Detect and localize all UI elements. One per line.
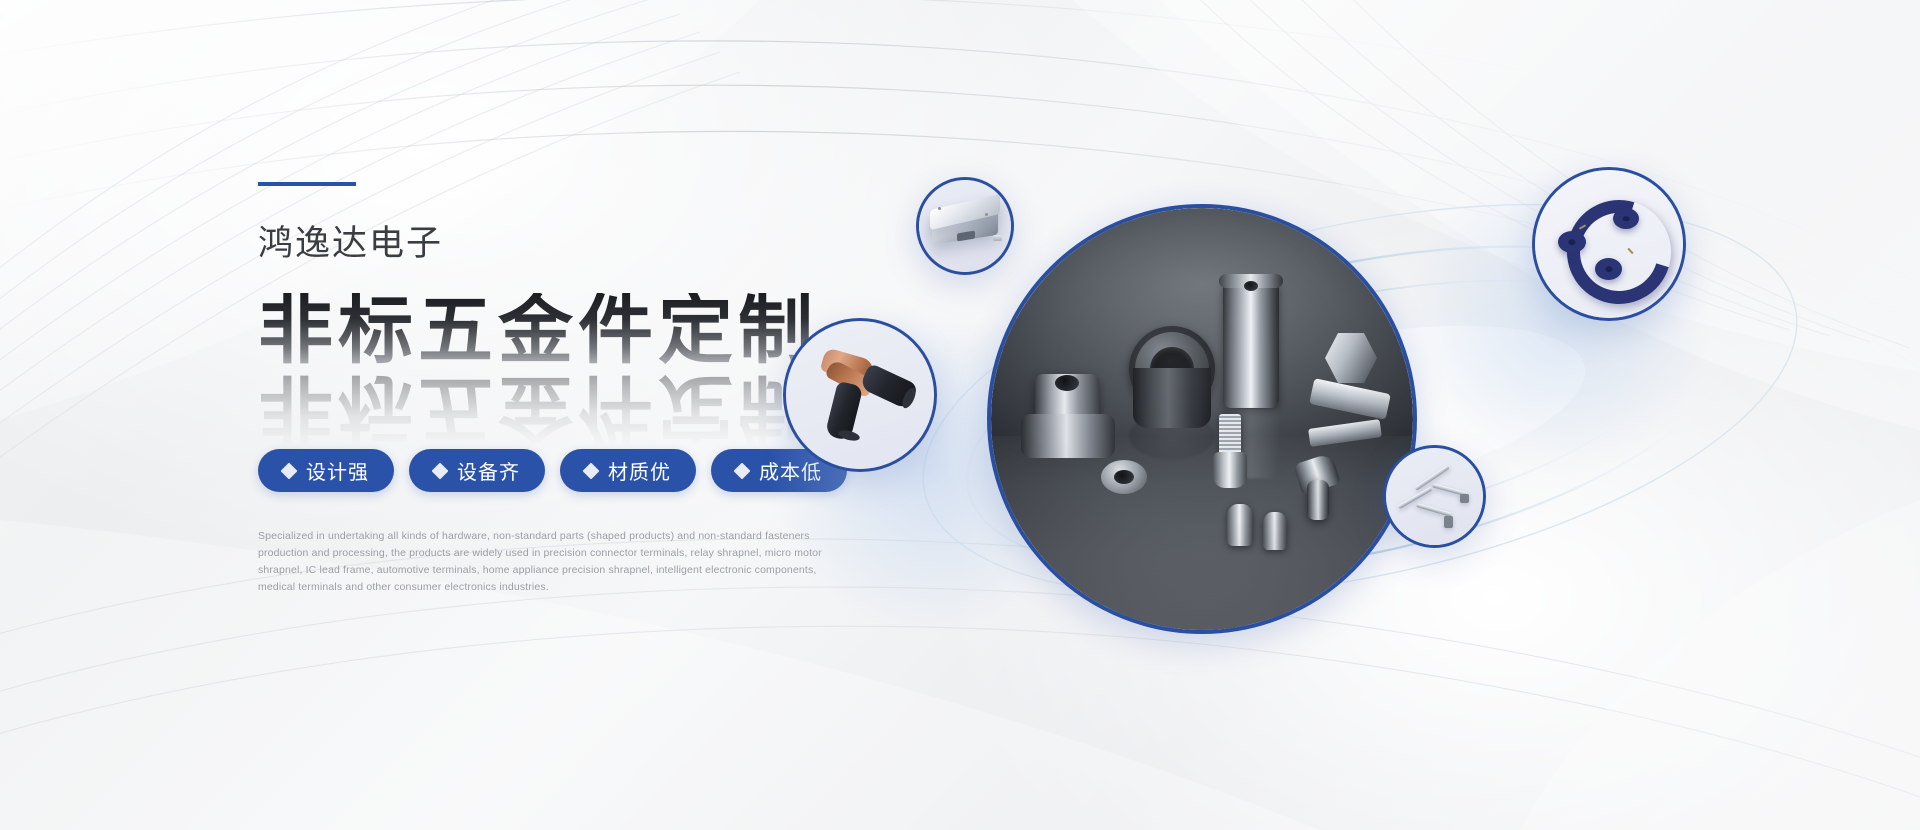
clip-lug-left [1558,231,1586,253]
retaining-clip-photo [1535,170,1683,318]
battery-clamp-node[interactable] [783,318,937,472]
feature-pill-list: 设计强 设备齐 材质优 成本低 [258,449,898,492]
pin-upper-tip [1460,494,1469,503]
hero-banner: 鸿逸达电子 非标五金件定制 非标五金件定制 设计强 设备齐 材质优 成本低 [0,0,1920,830]
clip-lug-bottom [1595,258,1622,280]
enclosure-screw [985,213,988,216]
bent-pins-photo [1386,448,1483,545]
precision-parts-photo [991,208,1413,630]
product-showcase [900,120,1800,680]
scene-vignette [991,208,1413,630]
feature-pill-label: 设计强 [306,456,369,485]
enclosure-port [957,231,975,242]
bent-pins-node[interactable] [1383,445,1486,548]
enclosure-tab [993,235,1002,241]
headline-reflection: 非标五金件定制 [258,371,818,446]
feature-pill-material[interactable]: 材质优 [560,449,696,492]
precision-parts-node[interactable] [987,204,1417,634]
retaining-clip-node[interactable] [1532,167,1686,321]
feature-pill-label: 成本低 [759,456,822,485]
metal-enclosure-photo [919,180,1011,272]
diamond-icon [432,462,449,479]
clip-lug-top [1613,208,1639,229]
description-line-2: production and processing, the products … [258,545,818,562]
metal-enclosure-node[interactable] [916,177,1014,275]
brand-name: 鸿逸达电子 [258,226,898,261]
diamond-icon [734,462,751,479]
pin-lower-mid [1416,503,1452,517]
pin-lower-tip [1444,516,1453,528]
battery-clamp-photo [786,321,934,469]
accent-bar [258,182,356,186]
feature-pill-design[interactable]: 设计强 [258,449,394,492]
enclosure-screw [938,207,941,210]
clamp-grip-opening [837,428,861,442]
description-line-1: Specialized in undertaking all kinds of … [258,528,818,545]
description-line-3: shrapnel, IC lead frame, automotive term… [258,562,818,579]
description-line-4: medical terminals and other consumer ele… [258,579,818,596]
feature-pill-label: 设备齐 [457,456,520,485]
diamond-icon [583,462,600,479]
feature-pill-equipment[interactable]: 设备齐 [409,449,545,492]
company-description: Specialized in undertaking all kinds of … [258,528,818,596]
diamond-icon [281,462,298,479]
feature-pill-label: 材质优 [608,456,671,485]
